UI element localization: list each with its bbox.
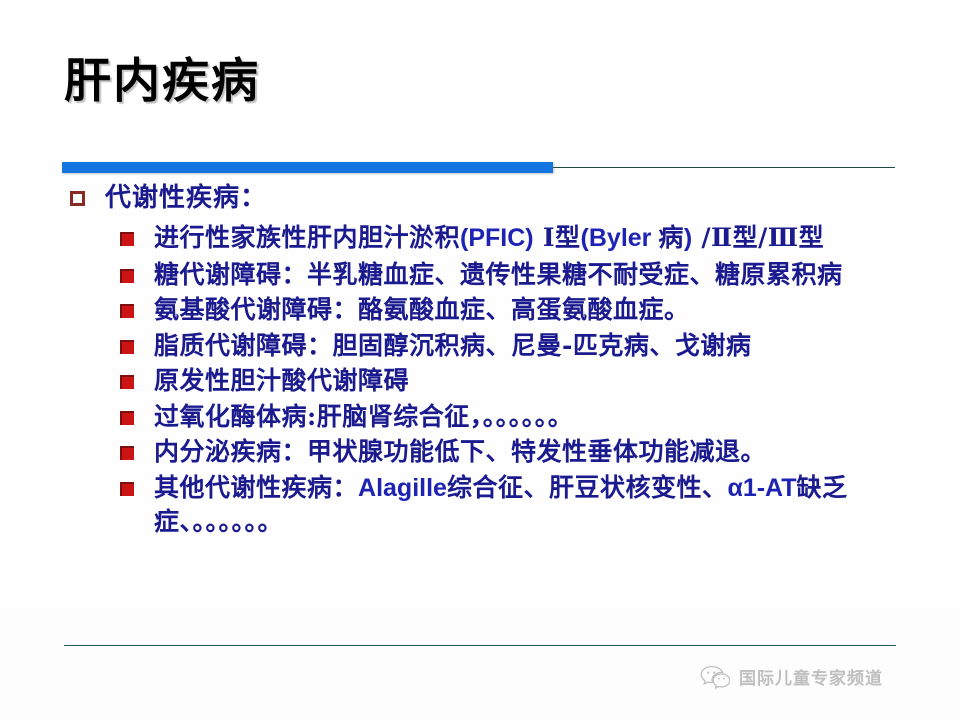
outline-level2-label: 其他代谢性疾病：Alagille综合征、肝豆状核变性、α1-AT缺乏症、。。。。… — [154, 471, 940, 539]
outline-level2-row: 氨基酸代谢障碍：酪氨酸血症、高蛋氨酸血症。 — [0, 293, 960, 327]
outline-level2-row: 其他代谢性疾病：Alagille综合征、肝豆状核变性、α1-AT缺乏症、。。。。… — [0, 471, 960, 539]
text-run-latin: α1-AT — [727, 474, 796, 502]
text-run-latin: ) — [684, 224, 692, 252]
text-run-cjk: /Ⅱ型/Ⅲ型 — [692, 223, 824, 252]
outline-level1-label: 代谢性疾病： — [105, 182, 267, 215]
title-divider — [62, 160, 895, 174]
outline-level2-row: 进行性家族性肝内胆汁淤积(PFIC) Ⅰ型(Byler 病) /Ⅱ型/Ⅲ型 — [0, 221, 960, 256]
outline-level2-row: 过氧化酶体病:肝脑肾综合征，。。。。。。 — [0, 400, 960, 434]
watermark: 国际儿童专家频道 — [700, 664, 883, 689]
wechat-icon — [700, 665, 730, 689]
text-run-latin: (Byler — [581, 224, 659, 252]
outline-level1-row: 代谢性疾病： — [0, 182, 960, 215]
outline-level2-row: 糖代谢障碍：半乳糖血症、遗传性果糖不耐受症、糖原累积病 — [0, 258, 960, 292]
filled-square-bullet-icon — [120, 482, 134, 496]
text-run-latin: (PFIC) — [460, 224, 534, 252]
outline-level2-label: 氨基酸代谢障碍：酪氨酸血症、高蛋氨酸血症。 — [154, 293, 690, 327]
watermark-label: 国际儿童专家频道 — [739, 664, 883, 689]
outline-level2-label: 进行性家族性肝内胆汁淤积(PFIC) Ⅰ型(Byler 病) /Ⅱ型/Ⅲ型 — [154, 221, 824, 256]
text-run-cjk: 糖代谢障碍：半乳糖血症、遗传性果糖不耐受症、糖原累积病 — [154, 260, 843, 289]
outline-level2-label: 过氧化酶体病:肝脑肾综合征，。。。。。。 — [154, 400, 573, 434]
text-run-cjk: 综合征、肝豆状核变性、 — [447, 473, 728, 502]
text-run-cjk: 其他代谢性疾病： — [154, 473, 358, 502]
filled-square-bullet-icon — [120, 269, 134, 283]
slide-canvas: 肝内疾病 代谢性疾病：进行性家族性肝内胆汁淤积(PFIC) Ⅰ型(Byler 病… — [0, 0, 960, 720]
text-run-cjk: 内分泌疾病：甲状腺功能低下、特发性垂体功能减退。 — [154, 437, 766, 466]
slide-content: 代谢性疾病：进行性家族性肝内胆汁淤积(PFIC) Ⅰ型(Byler 病) /Ⅱ型… — [0, 182, 960, 541]
bottom-divider-hairline — [64, 645, 896, 646]
filled-square-bullet-icon — [120, 446, 134, 460]
hollow-square-bullet-icon — [70, 191, 85, 206]
slide-title: 肝内疾病 — [64, 57, 260, 108]
filled-square-bullet-icon — [120, 375, 134, 389]
filled-square-bullet-icon — [120, 340, 134, 354]
outline-level2-label: 内分泌疾病：甲状腺功能低下、特发性垂体功能减退。 — [154, 435, 766, 469]
text-run-cjk: 原发性胆汁酸代谢障碍 — [154, 366, 409, 395]
text-run-cjk: 过氧化酶体病:肝脑肾综合征，。。。。。。 — [154, 402, 573, 431]
filled-square-bullet-icon — [120, 304, 134, 318]
outline-level2-label: 糖代谢障碍：半乳糖血症、遗传性果糖不耐受症、糖原累积病 — [154, 258, 843, 292]
text-run-cjk: 氨基酸代谢障碍：酪氨酸血症、高蛋氨酸血症。 — [154, 295, 690, 324]
text-run-cjk: 病 — [658, 223, 684, 252]
outline-level2-row: 内分泌疾病：甲状腺功能低下、特发性垂体功能减退。 — [0, 435, 960, 469]
filled-square-bullet-icon — [120, 232, 134, 246]
outline-level2-row: 脂质代谢障碍：胆固醇沉积病、尼曼-匹克病、戈谢病 — [0, 329, 960, 363]
outline-level2-label: 原发性胆汁酸代谢障碍 — [154, 364, 409, 398]
title-divider-accent-bar — [62, 162, 553, 173]
text-run-cjk: 进行性家族性肝内胆汁淤积 — [154, 223, 460, 252]
text-run-cjk: Ⅰ型 — [534, 223, 581, 252]
outline-level2-row: 原发性胆汁酸代谢障碍 — [0, 364, 960, 398]
outline-level2-list: 进行性家族性肝内胆汁淤积(PFIC) Ⅰ型(Byler 病) /Ⅱ型/Ⅲ型糖代谢… — [0, 221, 960, 539]
text-run-latin: Alagille — [358, 474, 447, 502]
text-run-cjk: 脂质代谢障碍：胆固醇沉积病、尼曼-匹克病、戈谢病 — [154, 331, 751, 360]
filled-square-bullet-icon — [120, 411, 134, 425]
outline-level2-label: 脂质代谢障碍：胆固醇沉积病、尼曼-匹克病、戈谢病 — [154, 329, 751, 363]
